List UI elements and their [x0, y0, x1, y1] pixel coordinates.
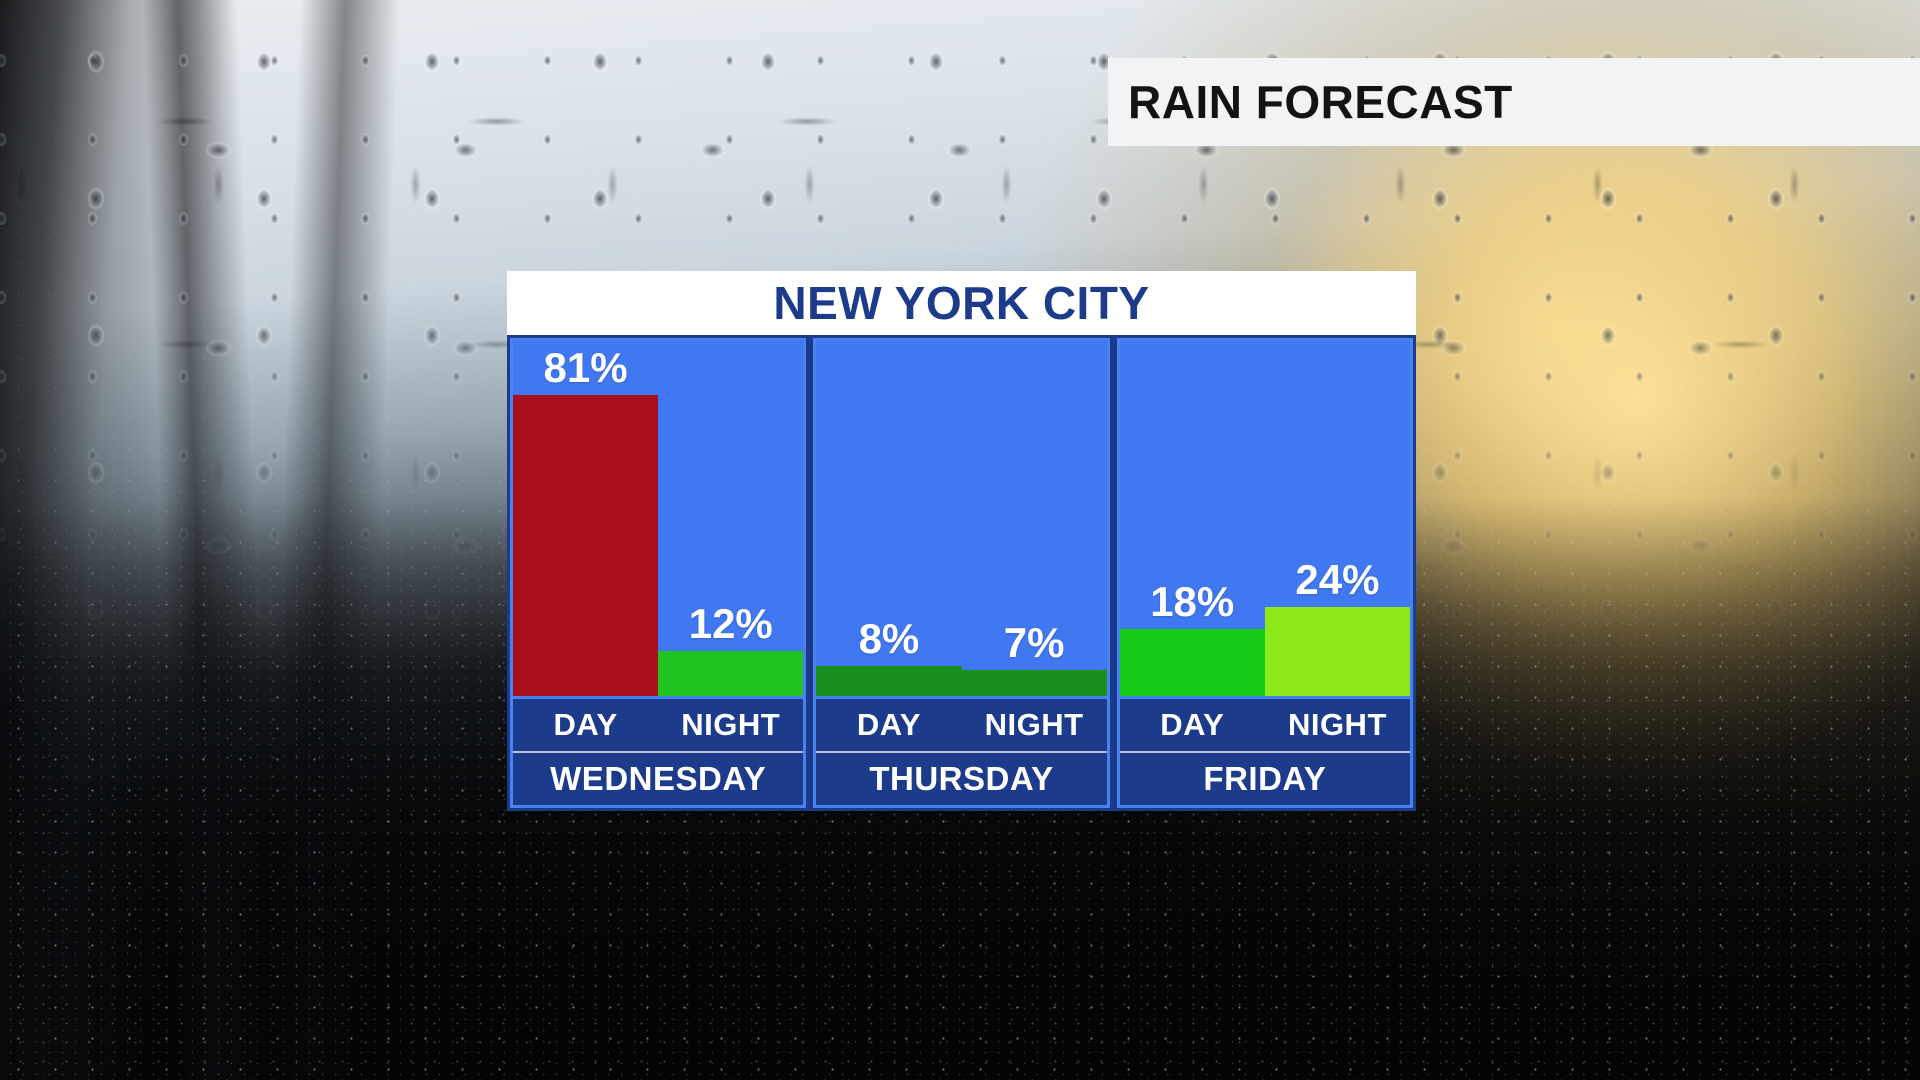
bar-slot-thursday-day: 8%	[816, 341, 961, 696]
bar-wednesday-night	[658, 651, 803, 696]
label-friday-day: DAY	[1120, 699, 1265, 751]
bar-thursday-day	[816, 666, 961, 696]
plot-area-wednesday: 81% 12%	[513, 341, 803, 696]
dayname-row-wednesday: WEDNESDAY	[513, 753, 803, 805]
bar-label-thursday-day: 8%	[859, 618, 920, 660]
label-wednesday-night: NIGHT	[658, 699, 803, 751]
dayname-wednesday: WEDNESDAY	[550, 760, 766, 798]
day-night-row-friday: DAY NIGHT	[1120, 696, 1410, 753]
forecast-card: NEW YORK CITY 81% 12% DAY NIGHT WEDNESDA…	[507, 271, 1416, 811]
label-thursday-night: NIGHT	[962, 699, 1107, 751]
card-title-bar: NEW YORK CITY	[507, 271, 1416, 335]
day-panel-wednesday[interactable]: 81% 12% DAY NIGHT WEDNESDAY	[510, 338, 806, 808]
bar-friday-night	[1265, 607, 1410, 696]
dayname-friday: FRIDAY	[1203, 760, 1326, 798]
dayname-row-friday: FRIDAY	[1120, 753, 1410, 805]
day-panel-friday[interactable]: 18% 24% DAY NIGHT FRIDAY	[1117, 338, 1413, 808]
day-panels-frame: 81% 12% DAY NIGHT WEDNESDAY 8%	[507, 335, 1416, 811]
bar-thursday-night	[962, 670, 1107, 696]
bar-slot-friday-night: 24%	[1265, 341, 1410, 696]
day-night-row-wednesday: DAY NIGHT	[513, 696, 803, 753]
dayname-row-thursday: THURSDAY	[816, 753, 1106, 805]
bar-label-thursday-night: 7%	[1004, 622, 1065, 664]
bar-slot-wednesday-day: 81%	[513, 341, 658, 696]
bar-slot-friday-day: 18%	[1120, 341, 1265, 696]
bar-wednesday-day	[513, 395, 658, 696]
day-night-row-thursday: DAY NIGHT	[816, 696, 1106, 753]
bar-label-friday-day: 18%	[1150, 581, 1234, 623]
city-title: NEW YORK CITY	[773, 276, 1149, 330]
label-wednesday-day: DAY	[513, 699, 658, 751]
rain-forecast-banner: RAIN FORECAST	[1108, 58, 1920, 146]
bar-label-friday-night: 24%	[1295, 559, 1379, 601]
dayname-thursday: THURSDAY	[869, 760, 1053, 798]
banner-title: RAIN FORECAST	[1128, 75, 1513, 129]
bar-slot-wednesday-night: 12%	[658, 341, 803, 696]
bar-label-wednesday-night: 12%	[689, 603, 773, 645]
bar-label-wednesday-day: 81%	[544, 347, 628, 389]
plot-area-thursday: 8% 7%	[816, 341, 1106, 696]
day-panel-thursday[interactable]: 8% 7% DAY NIGHT THURSDAY	[813, 338, 1109, 808]
bar-friday-day	[1120, 629, 1265, 696]
bar-slot-thursday-night: 7%	[962, 341, 1107, 696]
plot-area-friday: 18% 24%	[1120, 341, 1410, 696]
label-thursday-day: DAY	[816, 699, 961, 751]
label-friday-night: NIGHT	[1265, 699, 1410, 751]
